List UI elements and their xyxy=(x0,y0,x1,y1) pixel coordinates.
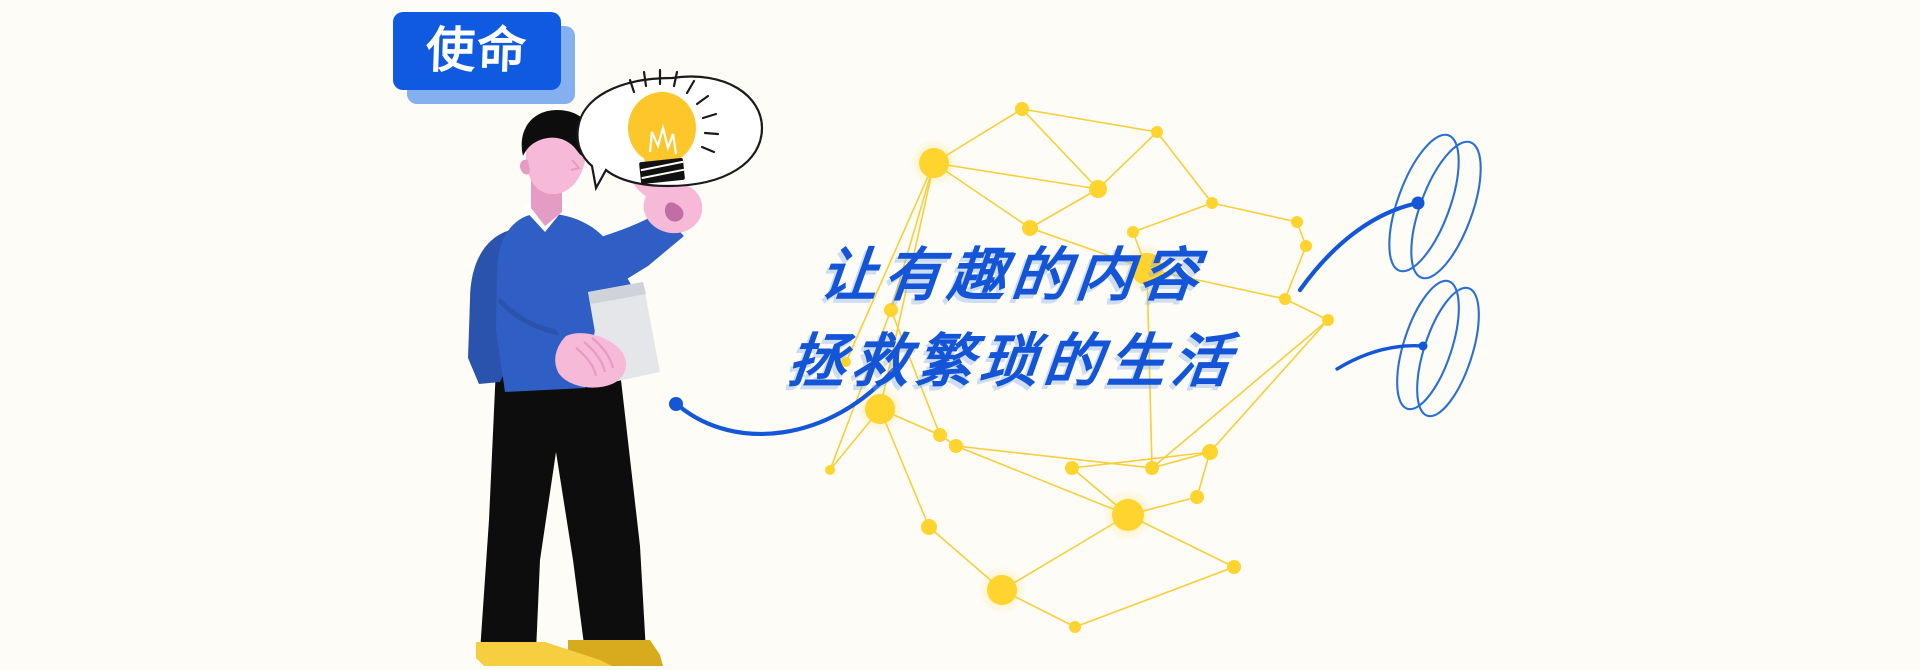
mission-banner: 让有趣的内容 拯救繁琐的生活 xyxy=(0,0,1920,670)
mission-badge-layer: 使命 xyxy=(0,0,1920,670)
mission-badge-label: 使命 xyxy=(425,27,529,76)
mission-badge-plate[interactable]: 使命 xyxy=(393,12,561,90)
mission-badge[interactable]: 使命 xyxy=(393,12,561,90)
